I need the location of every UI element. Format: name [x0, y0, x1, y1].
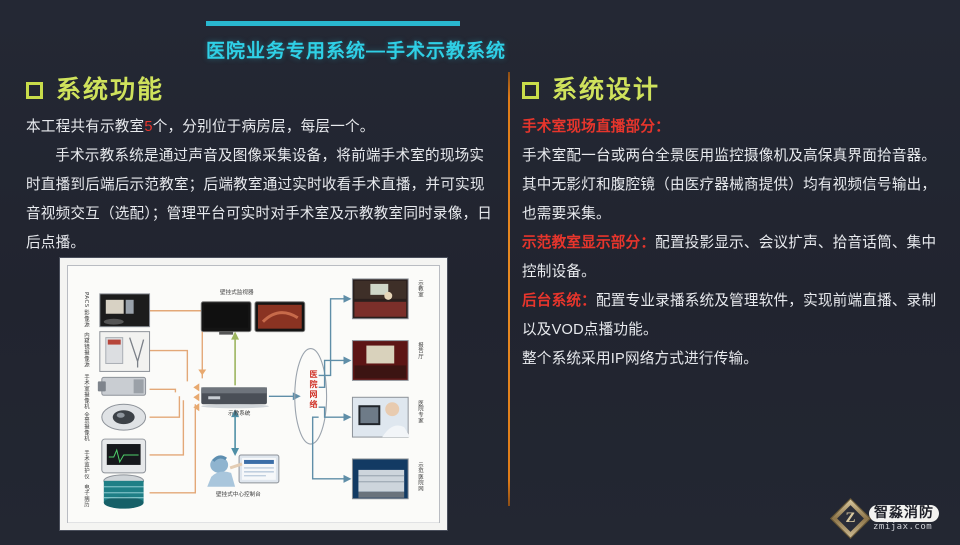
- figure-frame: PACS 影像源 内窥镜摄像源 手术室摄像机 全景摄像机 手术监护仪 电子病历 …: [67, 265, 440, 523]
- left-section-header: 系统功能: [26, 78, 496, 103]
- topology-diagram: [68, 266, 439, 523]
- figure-source-label-5: 电子病历: [82, 484, 90, 508]
- slide-canvas: 医院业务专用系统—手术示教系统 系统功能 本工程共有示教室5个，分别位于病房层，…: [0, 0, 960, 540]
- square-outline-icon: [26, 82, 43, 99]
- figure-center-label-1: 示教系统: [228, 409, 250, 417]
- left-p1-pre: 本工程共有示教室: [26, 119, 144, 135]
- left-body: 本工程共有示教室5个，分别位于病房层，每层一个。 手术示教系统是通过声音及图像采…: [26, 113, 496, 258]
- left-p1-count: 5: [144, 119, 152, 135]
- right-block-2-text: 其中无影灯和腹腔镜（由医疗器械商提供）均有视频信号输出，也需要采集。: [522, 177, 936, 222]
- right-block-4-label: 后台系统：: [522, 293, 596, 309]
- figure-dest-label-3: 示范医院网: [416, 462, 424, 492]
- page-title: 医院业务专用系统—手术示教系统: [206, 36, 506, 63]
- right-block-0: 手术室现场直播部分：: [522, 113, 946, 142]
- figure-source-label-4: 手术监护仪: [82, 450, 90, 480]
- figure-dest-label-1: 报告厅: [416, 342, 424, 360]
- right-block-3-label: 示范教室显示部分：: [522, 235, 655, 251]
- title-accent-bar: [206, 21, 460, 26]
- right-block-3: 示范教室显示部分：配置投影显示、会议扩声、拾音话筒、集中控制设备。: [522, 229, 946, 287]
- right-block-1: 手术室配一台或两台全景医用监控摄像机及高保真界面拾音器。: [522, 142, 946, 171]
- right-block-5: 整个系统采用IP网络方式进行传输。: [522, 345, 946, 374]
- figure-dest-label-2: 医院专家: [416, 400, 424, 424]
- control-console-icon: [207, 455, 279, 487]
- figure-source-label-3: 全景摄像机: [82, 412, 90, 442]
- right-body: 手术室现场直播部分： 手术室配一台或两台全景医用监控摄像机及高保真界面拾音器。 …: [522, 113, 946, 374]
- system-topology-figure: PACS 影像源 内窥镜摄像源 手术室摄像机 全景摄像机 手术监护仪 电子病历 …: [60, 258, 447, 530]
- figure-center-label-2: 壁挂式中心控制台: [216, 490, 261, 498]
- server-icon: [201, 387, 269, 408]
- left-paragraph-1: 本工程共有示教室5个，分别位于病房层，每层一个。: [26, 113, 496, 142]
- logo-diamond-icon: Z: [830, 497, 871, 538]
- figure-source-label-2: 手术室摄像机: [82, 374, 90, 409]
- figure-source-label-1: 内窥镜摄像源: [82, 332, 90, 367]
- right-block-1-text: 手术室配一台或两台全景医用监控摄像机及高保真界面拾音器。: [522, 148, 936, 164]
- column-divider: [508, 72, 510, 506]
- right-block-4: 后台系统：配置专业录播系统及管理软件，实现前端直播、录制以及VOD点播功能。: [522, 287, 946, 345]
- left-column: 系统功能 本工程共有示教室5个，分别位于病房层，每层一个。 手术示教系统是通过声…: [26, 78, 496, 258]
- square-outline-icon: [522, 82, 539, 99]
- right-section-title: 系统设计: [552, 78, 660, 103]
- logo-text-group: 智淼消防 zmijax.com: [869, 505, 939, 532]
- left-section-title: 系统功能: [56, 78, 164, 103]
- left-paragraph-2: 手术示教系统是通过声音及图像采集设备，将前端手术室的现场实时直播到后端后示范教室…: [26, 142, 496, 258]
- right-section-header: 系统设计: [522, 78, 946, 103]
- logo-mark-glyph: Z: [837, 505, 864, 532]
- figure-source-label-0: PACS 影像源: [82, 292, 90, 328]
- left-p1-post: 个，分别位于病房层，每层一个。: [153, 119, 375, 135]
- watermark-logo: Z 智淼消防 zmijax.com: [836, 500, 954, 536]
- logo-brand-name: 智淼消防: [869, 505, 939, 522]
- right-column: 系统设计 手术室现场直播部分： 手术室配一台或两台全景医用监控摄像机及高保真界面…: [522, 78, 946, 374]
- right-block-2: 其中无影灯和腹腔镜（由医疗器械商提供）均有视频信号输出，也需要采集。: [522, 171, 946, 229]
- right-block-5-text: 整个系统采用IP网络方式进行传输。: [522, 351, 758, 367]
- logo-url: zmijax.com: [869, 523, 939, 532]
- figure-center-label-0: 壁挂式监视器: [220, 288, 254, 296]
- right-block-0-label: 手术室现场直播部分：: [522, 119, 670, 135]
- figure-network-label: 医院网络: [308, 370, 319, 410]
- figure-dest-label-0: 示教室: [416, 280, 424, 298]
